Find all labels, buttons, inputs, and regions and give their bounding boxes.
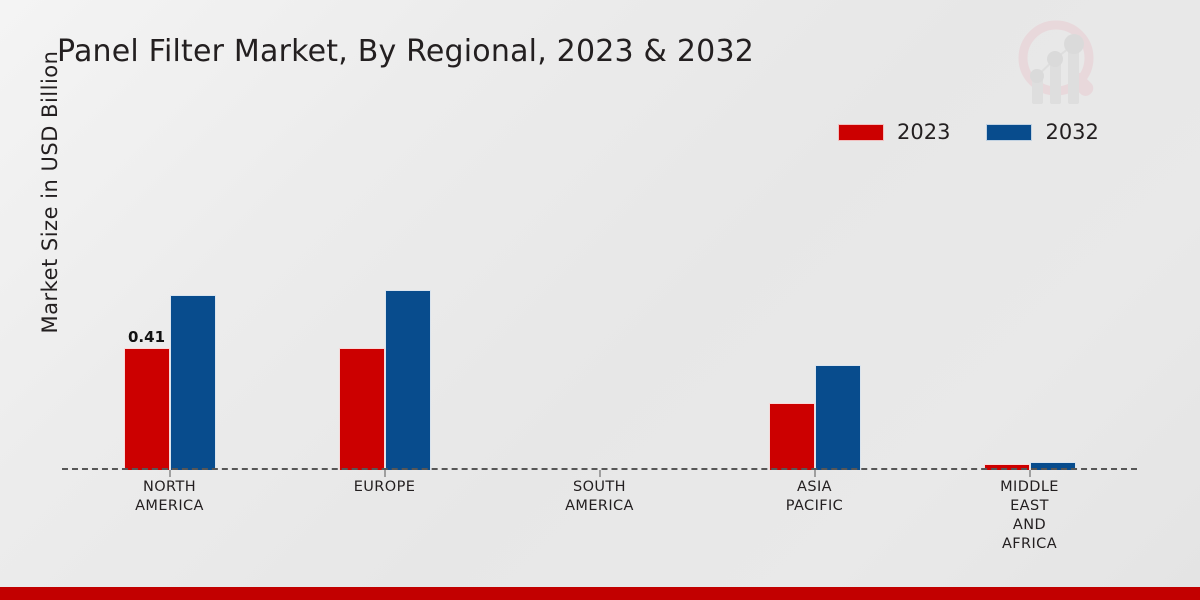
legend-label-2023: 2023 (897, 120, 950, 144)
x-axis-label-line: AMERICA (492, 497, 707, 516)
x-axis-label-asia-pacific: ASIA PACIFIC (707, 478, 922, 554)
x-axis-label-line: MIDDLE (922, 478, 1137, 497)
axis-tick (599, 470, 600, 477)
legend-swatch-2032 (986, 124, 1032, 141)
x-axis-label-line: EAST (922, 497, 1137, 516)
bar-pair (769, 160, 861, 470)
bar-group-south-america (492, 160, 707, 470)
x-axis-label-south-america: SOUTH AMERICA (492, 478, 707, 554)
axis-tick (169, 470, 170, 477)
x-axis-labels: NORTH AMERICA EUROPE SOUTH AMERICA ASIA … (62, 478, 1137, 554)
x-axis-label-europe: EUROPE (277, 478, 492, 554)
bar-pair (554, 160, 646, 470)
bar-groups: 0.41 (62, 160, 1137, 470)
chart-canvas: Panel Filter Market, By Regional, 2023 &… (0, 0, 1200, 600)
footer-accent-bar (0, 587, 1200, 600)
bar-pair: 0.41 (124, 160, 216, 470)
bar-group-asia-pacific (707, 160, 922, 470)
x-axis-label-line: PACIFIC (707, 497, 922, 516)
axis-tick (814, 470, 815, 477)
chart-legend: 2023 2032 (838, 120, 1099, 144)
legend-label-2032: 2032 (1045, 120, 1098, 144)
bar-value-label: 0.41 (128, 328, 165, 346)
bar-2023-north-america[interactable]: 0.41 (124, 348, 170, 470)
x-axis-label-line: AFRICA (922, 535, 1137, 554)
legend-item-2032[interactable]: 2032 (986, 120, 1098, 144)
x-axis-label-line: NORTH (62, 478, 277, 497)
y-axis-title: Market Size in USD Billion (38, 22, 62, 362)
x-axis-label-north-america: NORTH AMERICA (62, 478, 277, 554)
bar-pair (984, 160, 1076, 470)
x-axis-label-middle-east-and-africa: MIDDLE EAST AND AFRICA (922, 478, 1137, 554)
bar-pair (339, 160, 431, 470)
axis-tick (384, 470, 385, 477)
axis-baseline (62, 468, 1137, 470)
plot-area: 0.41 (62, 160, 1137, 470)
bar-2023-europe[interactable] (339, 348, 385, 470)
bar-2032-europe[interactable] (385, 290, 431, 470)
page-title: Panel Filter Market, By Regional, 2023 &… (57, 34, 754, 69)
bar-2032-north-america[interactable] (170, 295, 216, 470)
bar-group-middle-east-and-africa (922, 160, 1137, 470)
x-axis-label-line: AMERICA (62, 497, 277, 516)
bar-2032-asia-pacific[interactable] (815, 365, 861, 470)
bar-group-europe (277, 160, 492, 470)
legend-item-2023[interactable]: 2023 (838, 120, 950, 144)
x-axis-label-line: ASIA (707, 478, 922, 497)
watermark-logo-icon (1006, 14, 1114, 114)
legend-swatch-2023 (838, 124, 884, 141)
x-axis-label-line: EUROPE (277, 478, 492, 497)
x-axis-label-line: SOUTH (492, 478, 707, 497)
axis-tick (1029, 470, 1030, 477)
x-axis-label-line: AND (922, 516, 1137, 535)
bar-2023-asia-pacific[interactable] (769, 403, 815, 470)
bar-group-north-america: 0.41 (62, 160, 277, 470)
